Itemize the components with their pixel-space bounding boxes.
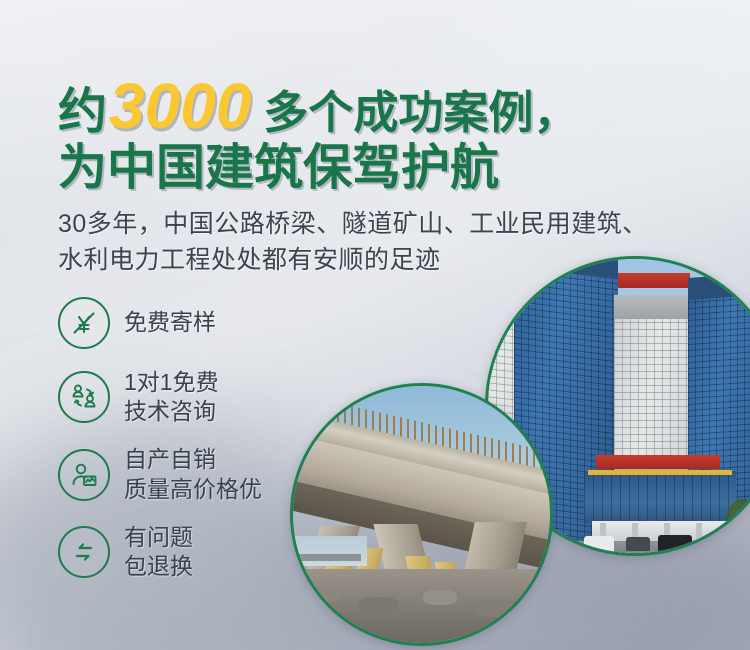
no-fee-yuan-icon (58, 297, 110, 349)
return-exchange-arrows-icon (58, 526, 110, 578)
feature-label-consultation: 1对1免费 技术咨询 (124, 368, 219, 426)
feature-item-consultation[interactable]: 1对1免费 技术咨询 (58, 368, 262, 426)
headline-prefix: 约 (58, 88, 107, 137)
person-chart-icon (58, 449, 110, 501)
feature-label-returns: 有问题 包退换 (124, 523, 193, 581)
feature-list: 免费寄样 1对1免费 技术咨询 (58, 297, 262, 581)
feature-label-free-sample: 免费寄样 (124, 308, 216, 337)
feature-label-direct-sales: 自产自销 质量高价格优 (124, 445, 262, 503)
feature-returns-line-2: 包退换 (124, 553, 193, 579)
headline: 约 3000 多个成功案例， 为中国建筑保驾护航 (58, 74, 578, 193)
feature-item-returns[interactable]: 有问题 包退换 (58, 523, 262, 581)
promo-banner: 约 3000 多个成功案例， 为中国建筑保驾护航 30多年，中国公路桥梁、隧道矿… (0, 0, 750, 650)
feature-consultation-line-1: 1对1免费 (124, 369, 219, 395)
feature-returns-line-1: 有问题 (124, 524, 193, 550)
feature-item-direct-sales[interactable]: 自产自销 质量高价格优 (58, 445, 262, 503)
feature-consultation-line-2: 技术咨询 (124, 398, 216, 424)
feature-item-free-sample[interactable]: 免费寄样 (58, 297, 262, 349)
subtitle-line-1: 30多年，中国公路桥梁、隧道矿山、工业民用建筑、 (58, 207, 648, 243)
headline-line-2: 为中国建筑保驾护航 (58, 144, 578, 193)
two-people-exchange-icon (58, 371, 110, 423)
subtitle: 30多年，中国公路桥梁、隧道矿山、工业民用建筑、 水利电力工程处处都有安顺的足迹 (58, 207, 648, 278)
feature-direct-sales-line-1: 自产自销 (124, 446, 216, 472)
feature-direct-sales-line-2: 质量高价格优 (124, 476, 262, 502)
subtitle-line-2: 水利电力工程处处都有安顺的足迹 (58, 243, 648, 279)
headline-suffix: 多个成功案例， (263, 90, 578, 135)
bridge-construction-photo (290, 383, 553, 646)
headline-number: 3000 (109, 74, 251, 138)
